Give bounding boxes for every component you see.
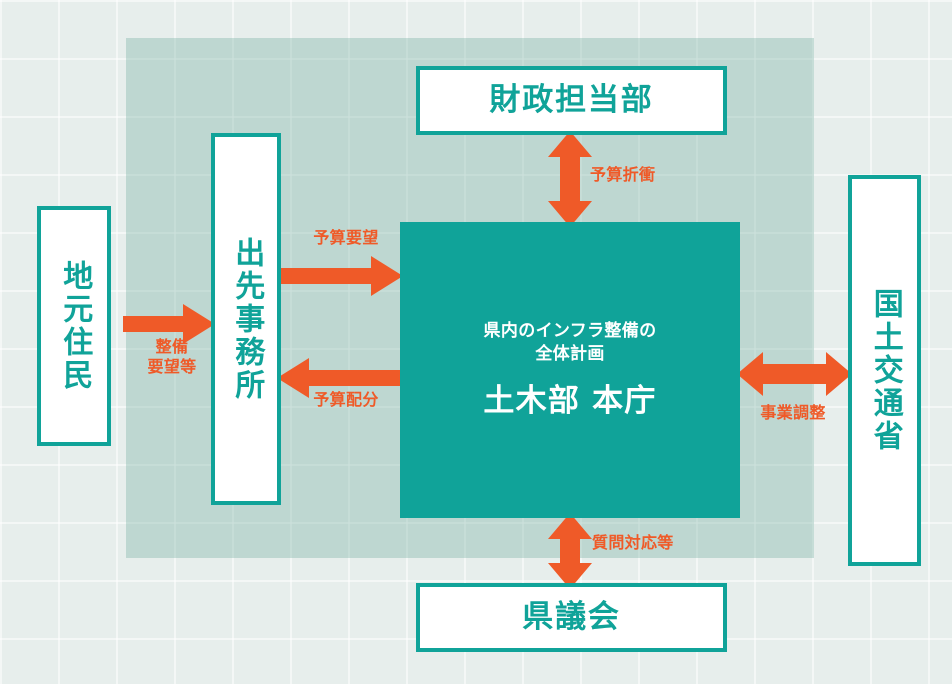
- arrow-branch-to-center: [277, 256, 403, 296]
- node-finance-department[interactable]: 財政担当部: [416, 66, 727, 135]
- arrow-center-finance: [548, 131, 592, 227]
- edge-label-yosan-youbou: 予算要望: [292, 228, 400, 248]
- node-prefectural-assembly[interactable]: 県議会: [416, 583, 727, 652]
- edge-label-shitsumon-taiou: 質問対応等: [592, 533, 724, 553]
- center-subtitle-line1: 県内のインフラ整備の: [484, 320, 657, 342]
- node-public-works-head-office[interactable]: 県内のインフラ整備の 全体計画 土木部 本庁: [400, 222, 740, 518]
- edge-label-yosan-sesshou: 予算折衝: [590, 165, 700, 185]
- arrow-center-assembly: [548, 513, 592, 589]
- arrow-center-mlit: [737, 352, 852, 396]
- node-local-residents[interactable]: 地元住民: [37, 206, 111, 446]
- center-subtitle-line2: 全体計画: [535, 343, 604, 365]
- edge-label-jigyou-chousei: 事業調整: [745, 403, 841, 423]
- center-title: 土木部 本庁: [483, 375, 656, 420]
- diagram-canvas: 整備 要望等 予算要望 予算配分 予算折衝 事業調整 質問対応等 地元住民 出先…: [0, 0, 952, 684]
- node-mlit[interactable]: 国土交通省: [848, 175, 921, 566]
- edge-label-seibi-youbou: 整備 要望等: [133, 337, 211, 376]
- node-branch-office[interactable]: 出先事務所: [211, 133, 281, 505]
- edge-label-yosan-haibun: 予算配分: [292, 390, 400, 410]
